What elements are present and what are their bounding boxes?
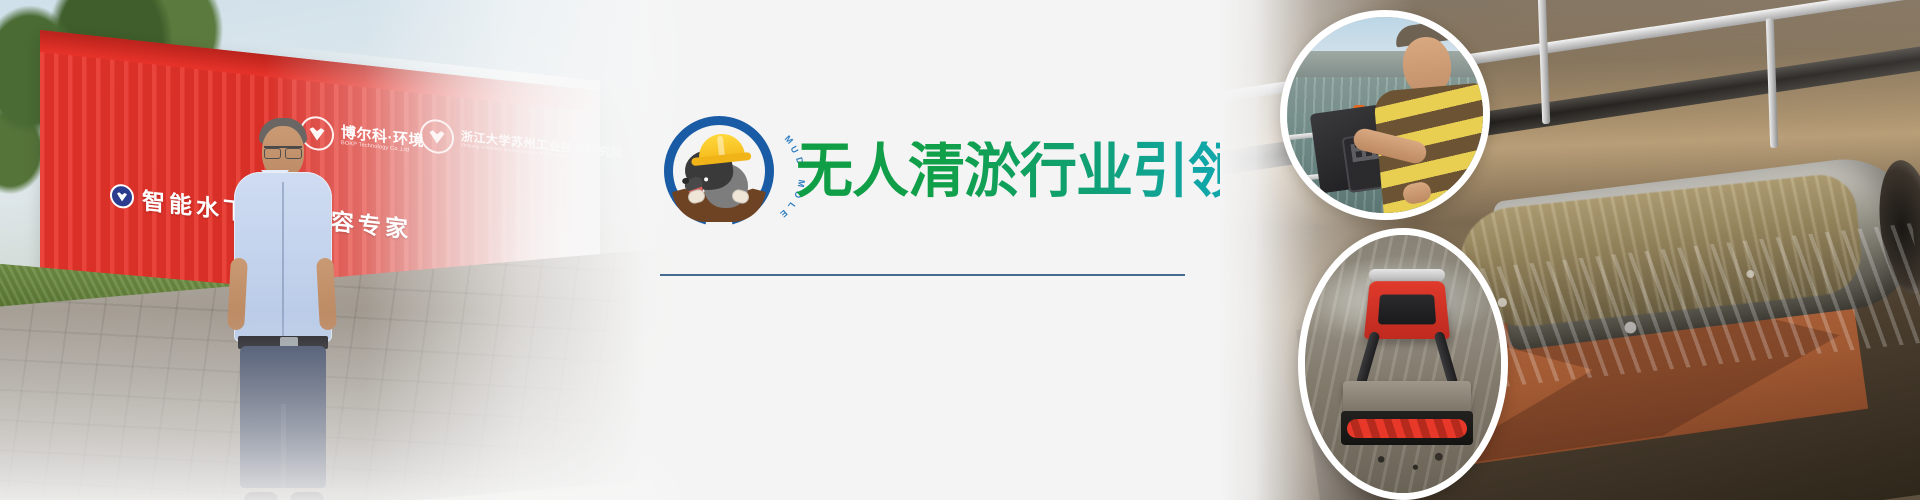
person-trousers bbox=[240, 346, 326, 488]
robot-chassis bbox=[1364, 281, 1450, 339]
left-photo: 博尔科·环境 BOKP Technology Co.,Ltd 浙江大学苏州工业技… bbox=[0, 0, 700, 500]
dredging-robot-scene bbox=[1305, 235, 1501, 493]
operator-console-scene bbox=[1287, 17, 1483, 213]
mud-mole-logo: MUD MOLE bbox=[660, 112, 778, 230]
logo-curved-letter: E bbox=[778, 208, 790, 220]
person-figure bbox=[222, 108, 342, 498]
center-content: MUD MOLE 无人清淤行业引领者 bbox=[660, 0, 1220, 500]
hero-banner: 博尔科·环境 BOKP Technology Co.,Ltd 浙江大学苏州工业技… bbox=[0, 0, 1920, 500]
auger-screw-assembly bbox=[1341, 411, 1473, 445]
operator-figure bbox=[1369, 23, 1490, 220]
person-shirt bbox=[234, 172, 332, 342]
headline-row: MUD MOLE 无人清淤行业引领者 bbox=[660, 112, 1200, 230]
dredging-robot-photo bbox=[1298, 228, 1508, 500]
zju-seal-icon bbox=[420, 118, 454, 156]
brandmark-text-group: 博尔科·环境 BOKP Technology Co.,Ltd bbox=[341, 125, 424, 156]
slogan-seal-icon bbox=[110, 183, 134, 210]
logo-curved-text: MUD MOLE bbox=[740, 152, 780, 212]
glasses-icon bbox=[264, 146, 302, 157]
person-shoes bbox=[244, 490, 324, 500]
center-inner: MUD MOLE 无人清淤行业引领者 bbox=[660, 112, 1200, 276]
mud-debris bbox=[1365, 449, 1455, 475]
mole-eye bbox=[704, 177, 708, 181]
robot-cutter-head-cover bbox=[1343, 381, 1471, 413]
person-arm-right bbox=[316, 258, 337, 331]
headline-divider bbox=[660, 274, 1185, 276]
hard-hat-icon bbox=[697, 132, 745, 163]
robot-roof-plate bbox=[1369, 269, 1445, 281]
operator-console-photo bbox=[1280, 10, 1490, 220]
logo-curved-letter: M bbox=[782, 134, 795, 147]
